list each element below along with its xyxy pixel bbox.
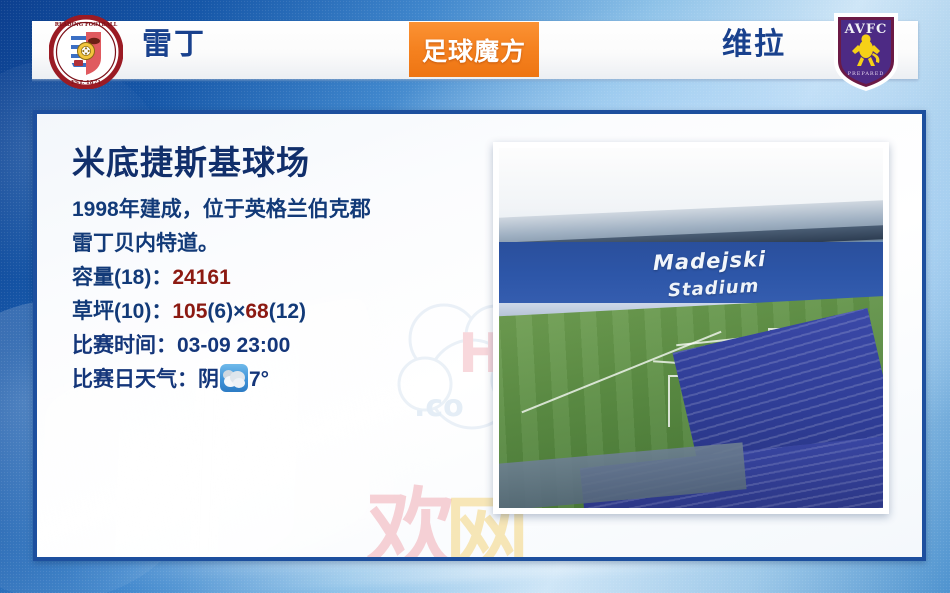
- svg-text:PREPARED: PREPARED: [848, 71, 885, 77]
- capacity-label: 容量(18)：: [72, 266, 172, 289]
- weather-label: 比赛日天气：: [72, 368, 198, 391]
- svg-text:EST. 1871: EST. 1871: [71, 80, 101, 86]
- stadium-title: 米底捷斯基球场: [72, 145, 492, 181]
- photo-stand-text-top: Madejski: [652, 247, 766, 275]
- match-time-label: 比赛时间：: [72, 334, 177, 357]
- match-time-row: 比赛时间：03-09 23:00: [72, 329, 492, 363]
- stadium-info-block: 米底捷斯基球场 1998年建成，位于英格兰伯克郡 雷丁贝内特道。 容量(18)：…: [72, 145, 492, 397]
- stadium-photo: Madejski Stadium: [499, 148, 883, 508]
- away-team-crest-icon: AVFC PREPARED: [828, 7, 904, 95]
- pitch-length-value: 105: [172, 300, 207, 323]
- weather-temperature: 7°: [249, 368, 269, 391]
- brand-logo-text: 足球魔方: [422, 32, 526, 68]
- stadium-pitch-row: 草坪(10)：105(6)×68(12): [72, 295, 492, 329]
- svg-text:READING FOOTBALL: READING FOOTBALL: [55, 22, 118, 28]
- home-team-name: 雷丁: [142, 30, 206, 60]
- home-team-crest-icon: READING FOOTBALL EST. 1871: [49, 15, 123, 89]
- page-root: READING FOOTBALL EST. 1871 雷丁 足球魔方 维拉 AV…: [0, 0, 950, 593]
- watermark-char-huan: 欢: [367, 486, 455, 561]
- stadium-description-line-2: 雷丁贝内特道。: [72, 227, 492, 261]
- pitch-length-rank: (6): [207, 300, 233, 323]
- pitch-label: 草坪(10)：: [72, 300, 172, 323]
- pitch-width-value: 68: [245, 300, 268, 323]
- match-time-value: 03-09 23:00: [177, 334, 290, 357]
- away-team-name: 维拉: [722, 30, 786, 60]
- photo-stand-text-bottom: Stadium: [667, 275, 759, 301]
- stadium-capacity-row: 容量(18)：24161: [72, 261, 492, 295]
- weather-condition: 阴: [198, 368, 219, 391]
- match-weather-row: 比赛日天气：阴7°: [72, 363, 492, 397]
- stadium-photo-frame[interactable]: Madejski Stadium: [493, 142, 889, 514]
- brand-logo[interactable]: 足球魔方: [409, 22, 539, 77]
- pitch-separator: ×: [233, 300, 245, 323]
- stadium-description-line-1: 1998年建成，位于英格兰伯克郡: [72, 193, 492, 227]
- capacity-value: 24161: [172, 266, 230, 289]
- stadium-info-panel: H .co 欢 网 米底捷斯基球场 1998年建成，位于英格兰伯克郡 雷丁贝内特…: [33, 110, 926, 561]
- pitch-width-rank: (12): [269, 300, 306, 323]
- cloudy-icon: [220, 364, 248, 392]
